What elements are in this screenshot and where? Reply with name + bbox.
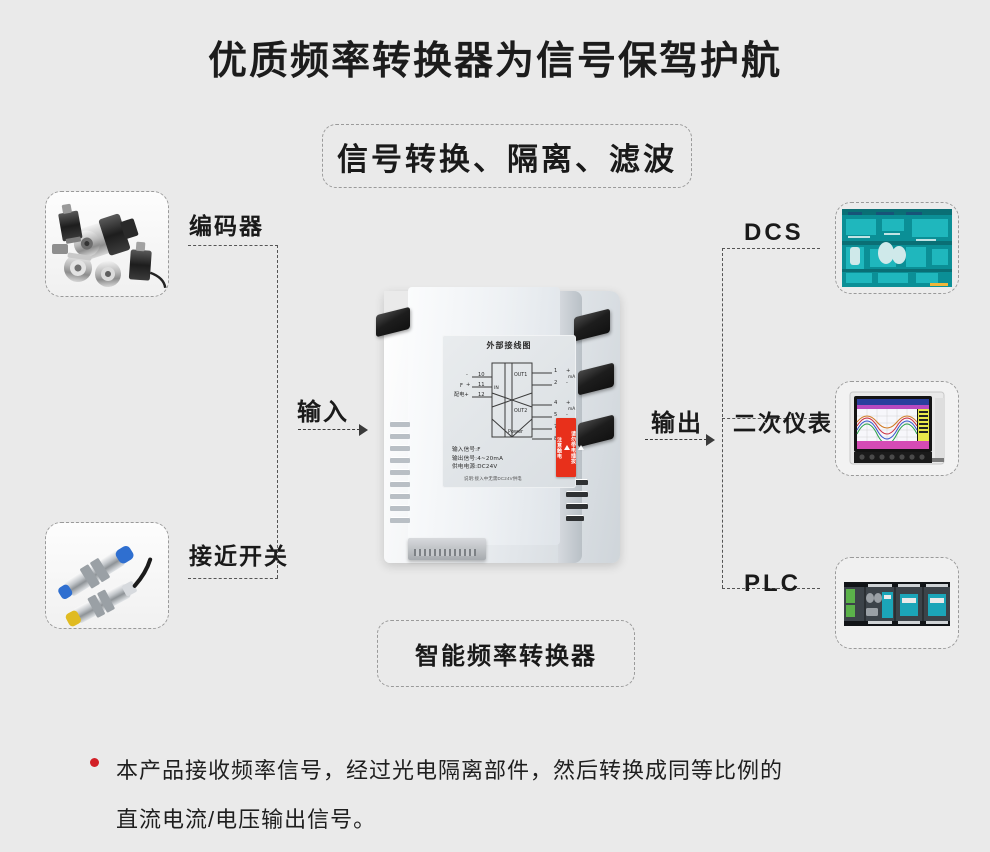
device-spec-list: 输入信号:F 输出信号:4~20mA 供电电源:DC24V	[452, 446, 503, 472]
description-line-1: 本产品接收频率信号，经过光电隔离部件，然后转换成同等比例的	[116, 746, 950, 795]
input-arrow-icon	[298, 424, 370, 436]
encoder-label: 编码器	[189, 207, 264, 241]
dcs-image-box	[835, 202, 959, 294]
dcs-label: DCS	[744, 219, 804, 247]
device-caption-text: 智能频率转换器	[415, 636, 597, 671]
svg-text:mA: mA	[568, 406, 575, 412]
svg-text:12: 12	[478, 392, 485, 398]
proximity-switch-label: 接近开关	[189, 537, 289, 571]
svg-text:2: 2	[554, 380, 557, 386]
plc-label: PLC	[744, 570, 801, 598]
dcs-branch-line	[722, 248, 820, 249]
output-arrow-icon	[645, 434, 717, 446]
din-rail-clip	[408, 538, 486, 560]
description-line-2: 直流电流/电压输出信号。	[116, 795, 950, 844]
svg-text:OUT1: OUT1	[514, 372, 527, 378]
encoder-image-box	[45, 191, 169, 297]
left-trunk-line	[277, 245, 278, 578]
paperless-recorder-photo	[836, 382, 958, 475]
rotary-encoders-photo	[46, 192, 168, 296]
warning-text-1: 注意触电	[556, 437, 570, 459]
secondary-meter-label: 二次仪表	[733, 404, 833, 438]
warning-triangle-icon-2	[578, 445, 584, 450]
svg-text:4: 4	[554, 400, 558, 406]
proximity-switches-photo	[46, 523, 168, 628]
frequency-converter-device: 外部接线图	[368, 283, 648, 573]
page-title: 优质频率转换器为信号保驾护航	[0, 30, 990, 86]
device-caption-box: 智能频率转换器	[377, 620, 635, 687]
svg-text:配电+: 配电+	[454, 390, 469, 398]
svg-text:OUT2: OUT2	[514, 408, 527, 414]
plc-modules-photo	[836, 558, 958, 648]
svg-text:-: -	[466, 372, 468, 378]
svg-text:mA: mA	[568, 374, 575, 380]
svg-text:10: 10	[478, 372, 485, 378]
svg-text:+: +	[566, 400, 570, 406]
device-spec-note: 说明:接入中无需DC24V供电	[464, 476, 522, 482]
encoder-branch-line	[188, 245, 278, 246]
description-block: 本产品接收频率信号，经过光电隔离部件，然后转换成同等比例的 直流电流/电压输出信…	[90, 746, 950, 844]
svg-text:11: 11	[478, 382, 485, 388]
svg-text:Power: Power	[508, 429, 524, 435]
spec-output: 输出信号:4~20mA	[452, 455, 503, 464]
dcs-hmi-screen-photo	[836, 203, 958, 293]
proximity-switch-image-box	[45, 522, 169, 629]
spec-input: 输入信号:F	[452, 446, 503, 455]
svg-text:+: +	[566, 368, 570, 374]
warning-text-2: 请勿带电插拔	[570, 431, 584, 464]
proximity-branch-line	[188, 578, 278, 579]
svg-text:F: F	[460, 383, 463, 389]
plc-image-box	[835, 557, 959, 649]
spec-power: 供电电源:DC24V	[452, 463, 503, 472]
subtitle-box: 信号转换、隔离、滤波	[322, 124, 692, 188]
bullet-icon	[90, 758, 99, 767]
svg-text:-: -	[566, 380, 568, 386]
warning-sticker: 注意触电 请勿带电插拔	[556, 418, 576, 477]
subtitle-text: 信号转换、隔离、滤波	[337, 134, 677, 179]
description-text: 本产品接收频率信号，经过光电隔离部件，然后转换成同等比例的 直流电流/电压输出信…	[116, 746, 950, 844]
input-label: 输入	[297, 392, 349, 427]
infographic-canvas: 优质频率转换器为信号保驾护航 信号转换、隔离、滤波	[0, 0, 990, 852]
svg-text:+: +	[466, 382, 470, 388]
output-label: 输出	[651, 403, 703, 438]
svg-text:1: 1	[554, 368, 557, 374]
secondary-meter-image-box	[835, 381, 959, 476]
svg-text:IN: IN	[494, 385, 499, 391]
